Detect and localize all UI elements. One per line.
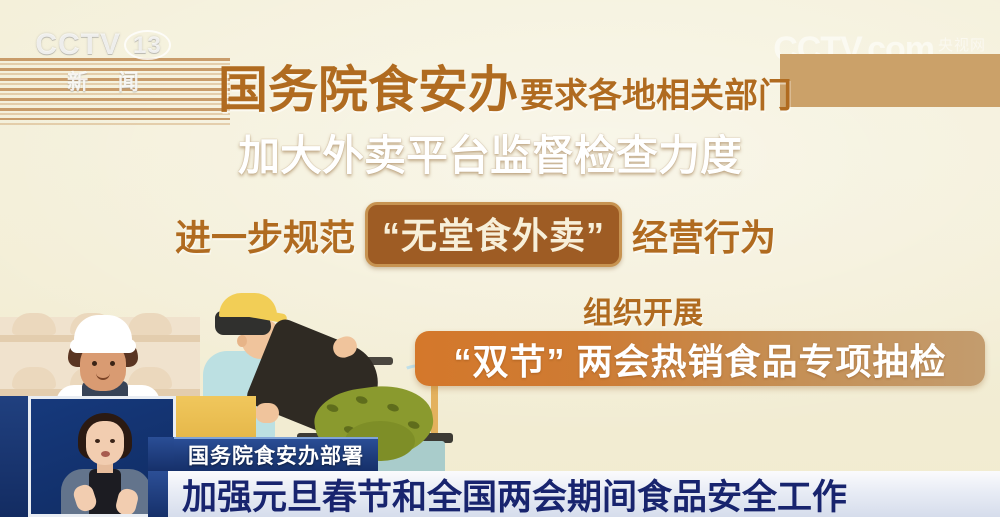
graphic-line3-chip: “无堂食外卖” — [365, 202, 622, 267]
lower-third-orange-accent — [176, 396, 256, 437]
lower-third-kicker-left-cap — [148, 437, 174, 471]
graphic-line-1: 国务院食安办 要求各地相关部门 — [218, 50, 792, 122]
lower-third-kicker: 国务院食安办部署 — [174, 437, 378, 471]
lower-third-headline-bar: 加强元旦春节和全国两会期间食品安全工作 — [168, 471, 1000, 517]
graphic-banner: “双节” 两会热销食品专项抽检 — [415, 331, 985, 386]
graphic-line3-suffix: 经营行为 — [632, 209, 776, 261]
broadcast-screenshot: CCTV 13 新 闻 CCTV.com 央视网 — [0, 0, 1000, 517]
lower-third-headline-label: 加强元旦春节和全国两会期间食品安全工作 — [182, 469, 847, 517]
graphic-banner-label: “双节” 两会热销食品专项抽检 — [453, 333, 946, 385]
graphic-line1-emphasis: 国务院食安办 — [218, 50, 518, 122]
graphic-line-4: 组织开展 — [583, 288, 703, 332]
graphic-line-3: 进一步规范 “无堂食外卖” 经营行为 — [175, 202, 776, 267]
graphic-line3-chip-label: “无堂食外卖” — [382, 215, 605, 256]
graphic-line-2: 加大外卖平台监督检查力度 — [238, 122, 742, 183]
graphic-line3-prefix: 进一步规范 — [175, 209, 355, 261]
lower-third-left-edge — [0, 396, 28, 517]
graphic-line1-rest: 要求各地相关部门 — [520, 68, 792, 117]
khaki-accent-block — [780, 54, 1000, 107]
lower-third-headline-left-cap — [148, 471, 170, 517]
graphic-text-block: 国务院食安办 要求各地相关部门 加大外卖平台监督检查力度 进一步规范 “无堂食外… — [0, 0, 1000, 420]
lower-third-kicker-label: 国务院食安办部署 — [188, 440, 364, 470]
